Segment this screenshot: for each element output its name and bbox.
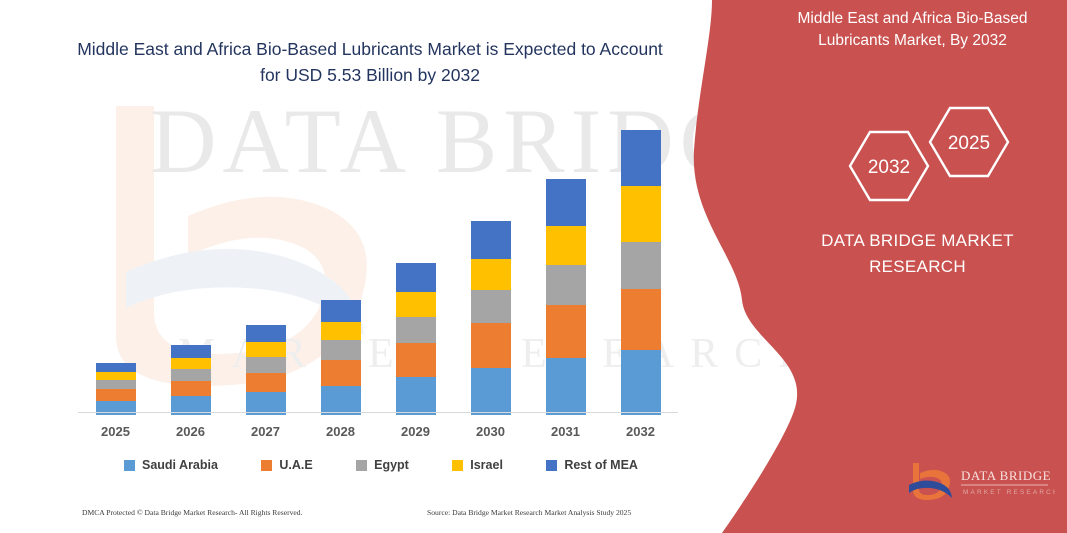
footer-source: Source: Data Bridge Market Research Mark… bbox=[427, 508, 631, 517]
legend-swatch-icon bbox=[124, 460, 135, 471]
x-axis-label: 2029 bbox=[381, 424, 451, 439]
bar-segment bbox=[171, 381, 211, 396]
legend-label: Egypt bbox=[374, 458, 409, 472]
legend-label: U.A.E bbox=[279, 458, 312, 472]
data-bridge-logo: DATA BRIDGE MARKET RESEARCH bbox=[905, 460, 1055, 505]
hexagon-2032-label: 2032 bbox=[868, 157, 910, 178]
legend-item[interactable]: Egypt bbox=[356, 458, 409, 472]
infographic-root: DATA BRIDGE MARKET RESEARCH Middle East … bbox=[0, 0, 1067, 533]
stacked-bar-chart bbox=[78, 110, 678, 415]
x-axis-line bbox=[78, 412, 678, 413]
bar-segment bbox=[546, 265, 586, 305]
bar-segment bbox=[246, 342, 286, 357]
footer: DMCA Protected © Data Bridge Market Rese… bbox=[82, 508, 682, 517]
stacked-bar bbox=[171, 345, 211, 415]
bar-segment bbox=[171, 345, 211, 357]
bar-segment bbox=[471, 368, 511, 415]
bar-segment bbox=[396, 263, 436, 292]
bar-segment bbox=[396, 377, 436, 415]
bar-segment bbox=[546, 358, 586, 415]
bar-segment bbox=[96, 389, 136, 400]
bar-segment bbox=[546, 179, 586, 226]
bar-segment bbox=[621, 130, 661, 186]
stacked-bar bbox=[321, 300, 361, 415]
legend-swatch-icon bbox=[261, 460, 272, 471]
bar-segment bbox=[321, 300, 361, 322]
bar-segment bbox=[621, 242, 661, 289]
legend-label: Saudi Arabia bbox=[142, 458, 218, 472]
x-axis-label: 2026 bbox=[156, 424, 226, 439]
bar-segment bbox=[321, 386, 361, 415]
logo-tagline-text: MARKET RESEARCH bbox=[963, 489, 1055, 496]
bar-segment bbox=[246, 357, 286, 372]
legend-item[interactable]: Israel bbox=[452, 458, 503, 472]
x-axis-label: 2028 bbox=[306, 424, 376, 439]
bar-segment bbox=[546, 226, 586, 264]
legend-swatch-icon bbox=[546, 460, 557, 471]
bar-series-container bbox=[78, 113, 678, 415]
legend-swatch-icon bbox=[452, 460, 463, 471]
bar-segment bbox=[621, 350, 661, 415]
stacked-bar bbox=[396, 263, 436, 415]
bar-segment bbox=[171, 369, 211, 381]
x-axis-labels: 20252026202720282029203020312032 bbox=[78, 418, 678, 444]
stacked-bar bbox=[471, 221, 511, 415]
bar-segment bbox=[621, 186, 661, 242]
bar-column bbox=[231, 113, 301, 415]
bar-segment bbox=[96, 372, 136, 380]
bar-segment bbox=[321, 360, 361, 386]
legend-label: Israel bbox=[470, 458, 503, 472]
bar-segment bbox=[471, 221, 511, 259]
stacked-bar bbox=[96, 363, 136, 415]
legend-label: Rest of MEA bbox=[564, 458, 638, 472]
bar-segment bbox=[96, 363, 136, 372]
bar-segment bbox=[396, 292, 436, 317]
bar-segment bbox=[246, 373, 286, 393]
brand-line-1: DATA BRIDGE MARKET bbox=[790, 228, 1045, 254]
legend-item[interactable]: U.A.E bbox=[261, 458, 312, 472]
data-bridge-logo-icon: DATA BRIDGE MARKET RESEARCH bbox=[905, 460, 1055, 505]
bar-segment bbox=[471, 290, 511, 323]
bar-column bbox=[81, 113, 151, 415]
bar-column bbox=[381, 113, 451, 415]
bar-column bbox=[456, 113, 526, 415]
hexagon-pair: 2025 2032 bbox=[820, 100, 1040, 210]
bar-segment bbox=[321, 322, 361, 341]
x-axis-label: 2027 bbox=[231, 424, 301, 439]
x-axis-label: 2025 bbox=[81, 424, 151, 439]
x-axis-label: 2030 bbox=[456, 424, 526, 439]
panel-title: Middle East and Africa Bio-Based Lubrica… bbox=[770, 8, 1055, 53]
bar-segment bbox=[96, 380, 136, 389]
bar-column bbox=[531, 113, 601, 415]
logo-name-text: DATA BRIDGE bbox=[961, 468, 1051, 483]
x-axis-label: 2031 bbox=[531, 424, 601, 439]
bar-segment bbox=[171, 358, 211, 369]
chart-legend: Saudi ArabiaU.A.EEgyptIsraelRest of MEA bbox=[78, 453, 678, 477]
legend-swatch-icon bbox=[356, 460, 367, 471]
stacked-bar bbox=[546, 179, 586, 415]
chart-title: Middle East and Africa Bio-Based Lubrica… bbox=[70, 36, 670, 89]
bar-segment bbox=[471, 323, 511, 367]
bar-segment bbox=[471, 259, 511, 290]
footer-dmca: DMCA Protected © Data Bridge Market Rese… bbox=[82, 508, 427, 517]
bar-column bbox=[306, 113, 376, 415]
brand-line-2: RESEARCH bbox=[790, 254, 1045, 280]
bar-segment bbox=[246, 325, 286, 342]
bar-segment bbox=[546, 305, 586, 359]
bar-segment bbox=[621, 289, 661, 350]
legend-item[interactable]: Rest of MEA bbox=[546, 458, 638, 472]
bar-segment bbox=[321, 340, 361, 360]
bar-segment bbox=[396, 343, 436, 377]
brand-name: DATA BRIDGE MARKET RESEARCH bbox=[790, 228, 1045, 281]
legend-item[interactable]: Saudi Arabia bbox=[124, 458, 218, 472]
bar-column bbox=[156, 113, 226, 415]
bar-segment bbox=[396, 317, 436, 343]
stacked-bar bbox=[246, 325, 286, 415]
stacked-bar bbox=[621, 130, 661, 415]
hexagon-2025-label: 2025 bbox=[948, 133, 990, 154]
